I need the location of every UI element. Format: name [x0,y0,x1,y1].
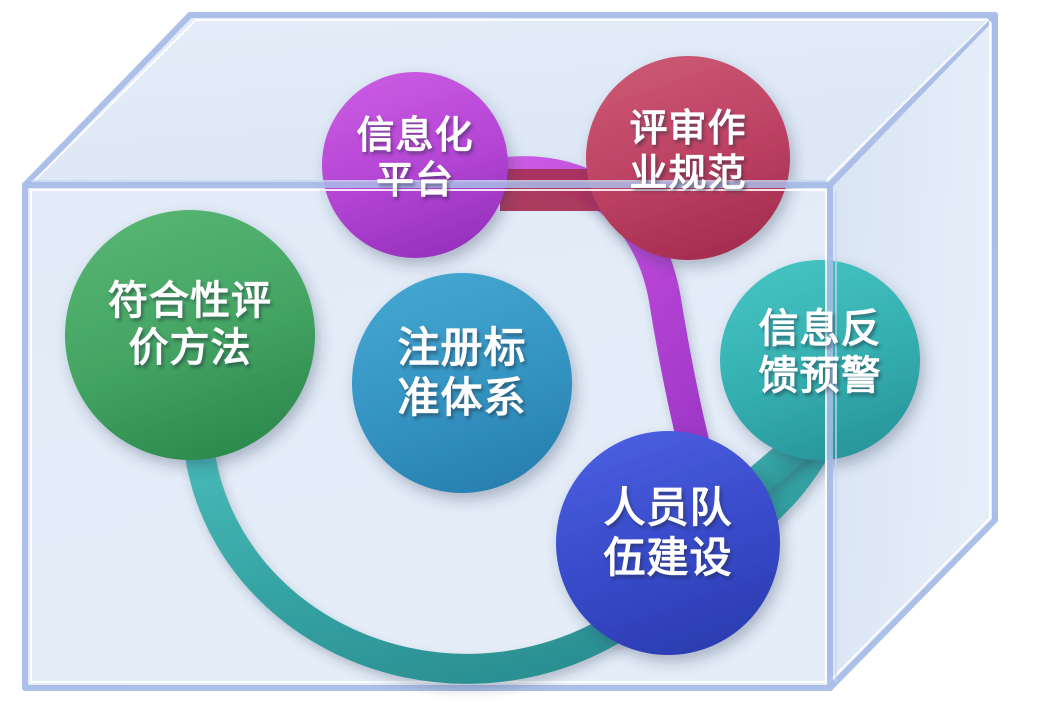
bubble-conformity[interactable] [65,210,315,460]
bubble-personnel[interactable] [556,431,780,655]
bubble-informatization[interactable] [322,72,508,258]
diagram-canvas: 符合性评 价方法 信息化 平台 评审作 业规范 注册标 准体系 信息反 馈预警 … [0,0,1051,703]
bubble-registration-standard[interactable] [352,273,572,493]
bubble-feedback-alert[interactable] [720,260,920,460]
bubble-review-spec[interactable] [586,56,790,260]
cube-frame-layer [0,0,1051,703]
